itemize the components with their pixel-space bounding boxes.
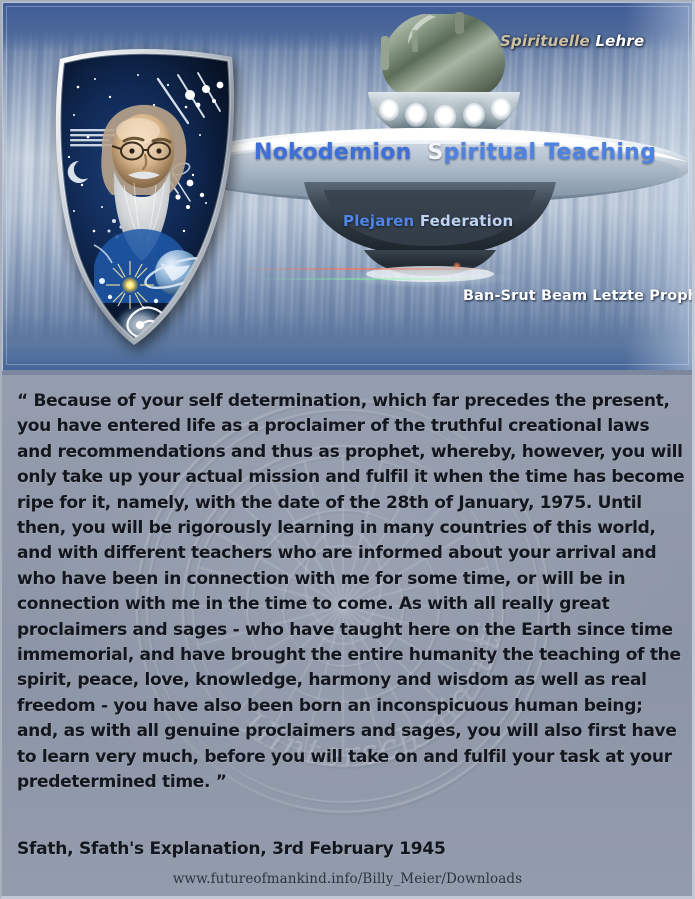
label-ban-srut-beam-letzte-prophet: Ban-Srut Beam Letzte Prophet <box>463 288 695 304</box>
hero-title-word-spiritual-teaching: piritual Teaching <box>444 140 657 165</box>
hero-title-word-nokodemion: Nokodemion <box>254 140 412 165</box>
label-spirituelle-lehre: Spirituelle Lehre <box>500 32 644 50</box>
label-plejaren-federation: Plejaren Federation <box>343 212 513 230</box>
beam-flare-dot <box>452 262 462 270</box>
quote-attribution: Sfath, Sfath's Explanation, 3rd February… <box>17 839 446 859</box>
ban-srut-beam-green <box>252 278 482 280</box>
label-spirituelle-word: Spirituelle <box>500 32 590 50</box>
ban-srut-beam-red <box>236 268 506 270</box>
label-federation-word: Federation <box>414 212 513 230</box>
hero-image: Spirituelle Lehre Nokodemion Spiritual T… <box>0 0 695 375</box>
hero-title-nokodemion-spiritual-teaching: Nokodemion Spiritual Teaching <box>254 140 656 165</box>
source-website-url: www.futureofmankind.info/Billy_Meier/Dow… <box>0 871 695 887</box>
figu-shield-emblem <box>38 45 253 345</box>
quote-text: “ Because of your self determination, wh… <box>17 389 685 796</box>
poster-page: Spirituelle Lehre Nokodemion Spiritual T… <box>0 0 695 899</box>
label-plejaren-word: Plejaren <box>343 212 414 230</box>
hero-title-word-spiritual-initial: S <box>428 140 444 165</box>
quote-panel: Hinterschmidrüti Hinterschmidrüti “ Beca… <box>0 375 695 899</box>
label-lehre-word: Lehre <box>595 32 644 50</box>
